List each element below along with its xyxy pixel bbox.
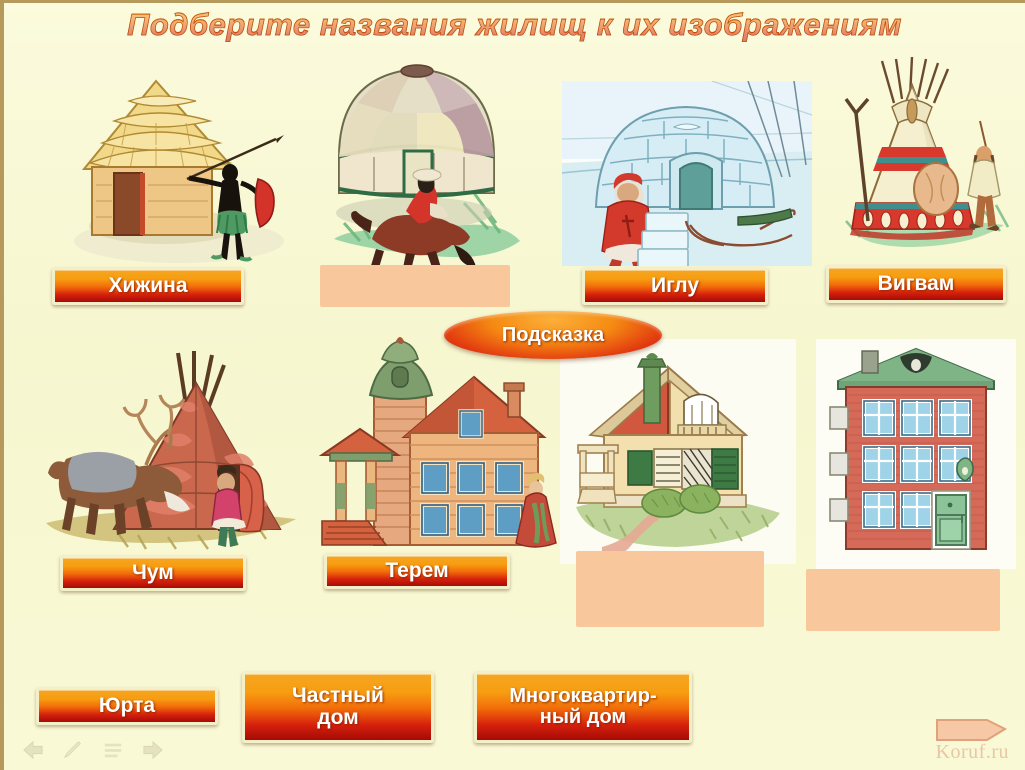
answer-bank-apartment-block[interactable]: Многоквартир- ный дом — [474, 671, 692, 743]
watermark: Koruf.ru — [936, 741, 1009, 764]
picture-yurt[interactable] — [314, 53, 529, 268]
picture-private-house[interactable] — [560, 339, 796, 564]
answer-label-line2: ный дом — [540, 707, 626, 728]
picture-apartment-block[interactable] — [816, 339, 1016, 569]
answer-label: Вигвам — [878, 273, 955, 295]
picture-chum[interactable] — [28, 347, 306, 552]
answer-button-hut[interactable]: Хижина — [52, 267, 244, 305]
forward-arrow-icon[interactable] — [142, 740, 164, 760]
back-arrow-icon[interactable] — [22, 740, 44, 760]
picture-wigwam[interactable] — [834, 51, 1014, 266]
footer-nav — [22, 740, 164, 760]
answer-label-line1: Частный — [292, 685, 384, 707]
answer-button-wigwam[interactable]: Вигвам — [826, 265, 1006, 303]
answer-label-line2: дом — [317, 707, 358, 729]
drop-slot-apartment-block[interactable] — [806, 569, 1000, 631]
answer-bank-private-house[interactable]: Частный дом — [242, 671, 434, 743]
picture-hut[interactable] — [44, 51, 294, 266]
drop-slot-yurt[interactable] — [320, 265, 510, 307]
answer-label: Чум — [132, 562, 174, 584]
page-title: Подберите названия жилищ к их изображени… — [4, 7, 1025, 43]
slide-canvas: Подберите названия жилищ к их изображени… — [0, 0, 1025, 770]
hint-label: Подсказка — [502, 324, 604, 347]
picture-terem[interactable] — [308, 333, 558, 563]
answer-button-chum[interactable]: Чум — [60, 555, 246, 591]
pen-icon[interactable] — [62, 740, 84, 760]
answer-button-igloo[interactable]: Иглу — [582, 267, 768, 305]
answer-label: Иглу — [651, 275, 699, 297]
answer-label: Хижина — [108, 275, 187, 297]
picture-igloo[interactable] — [562, 81, 812, 266]
hint-button[interactable]: Подсказка — [444, 311, 662, 359]
next-arrow-icon[interactable] — [935, 714, 1007, 744]
list-icon[interactable] — [102, 740, 124, 760]
answer-label-line1: Многоквартир- — [509, 686, 656, 707]
drop-slot-private-house[interactable] — [576, 551, 764, 627]
answer-button-terem[interactable]: Терем — [324, 553, 510, 589]
answer-label: Юрта — [99, 695, 155, 717]
answer-label: Терем — [385, 560, 448, 582]
answer-bank-yurta[interactable]: Юрта — [36, 687, 218, 725]
